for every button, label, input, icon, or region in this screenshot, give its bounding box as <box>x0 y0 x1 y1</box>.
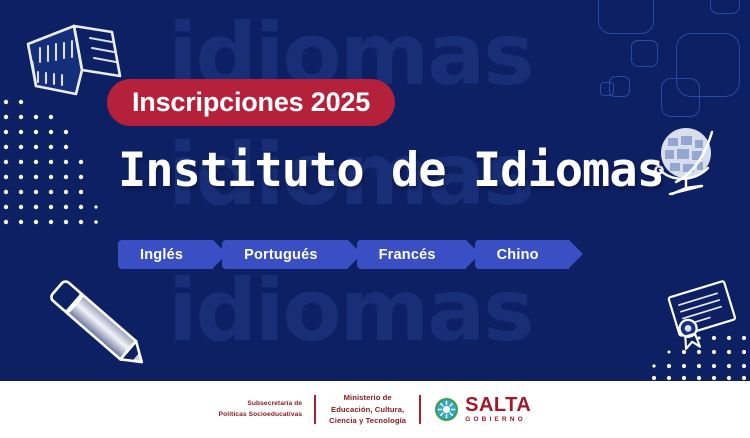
rounded-square-decor <box>710 0 740 14</box>
salta-gobierno-logo: SALTA GOBIERNO <box>421 395 531 424</box>
diploma-icon <box>664 278 744 354</box>
ministerio-line-3: Ciencia y Tecnología <box>329 415 406 426</box>
hero-section: idiomas idiomas idiomas <box>0 0 750 381</box>
subsecretaria-block: Subsecretaría de Políticas Socioeducativ… <box>219 399 315 419</box>
tab-chino[interactable]: Chino <box>475 240 569 269</box>
subsecretaria-text: Subsecretaría de Políticas Socioeducativ… <box>219 399 315 419</box>
tab-ingles[interactable]: Inglés <box>118 240 213 269</box>
sun-emblem-icon <box>437 400 456 419</box>
rounded-square-decor <box>598 0 654 34</box>
tab-frances-label: Francés <box>379 247 436 263</box>
inscriptions-badge: Inscripciones 2025 <box>107 79 395 126</box>
tab-chino-label: Chino <box>497 247 539 263</box>
subsecretaria-line-1: Subsecretaría de <box>219 399 303 409</box>
ministerio-line-1: Ministerio de <box>329 392 406 403</box>
banner-root: idiomas idiomas idiomas <box>0 0 750 438</box>
tab-frances[interactable]: Francés <box>357 240 466 269</box>
dot-grid-left <box>0 96 102 236</box>
inscriptions-badge-label: Inscripciones 2025 <box>132 87 370 118</box>
tab-ingles-label: Inglés <box>140 247 183 263</box>
pencil-icon <box>38 278 166 374</box>
tab-portugues[interactable]: Portugués <box>222 240 348 269</box>
rounded-square-decor <box>600 82 614 96</box>
watermark-text-row-3: idiomas <box>168 268 532 354</box>
rounded-square-decor <box>631 40 658 67</box>
salta-subtitle: GOBIERNO <box>465 417 531 424</box>
ministerio-text: Ministerio de Educación, Cultura, Cienci… <box>316 392 419 426</box>
salta-seal-icon <box>435 398 458 421</box>
subsecretaria-line-2: Políticas Socioeducativas <box>219 410 303 420</box>
ministerio-line-2: Educación, Cultura, <box>329 404 406 415</box>
salta-wordmark: SALTA GOBIERNO <box>465 395 531 424</box>
footer: Subsecretaría de Políticas Socioeducativ… <box>0 381 750 438</box>
salta-name: SALTA <box>465 395 531 415</box>
tab-portugues-label: Portugués <box>244 247 318 263</box>
page-title: Instituto de Idiomas <box>118 143 664 198</box>
language-tabs: Inglés Portugués Francés Chino <box>118 240 569 269</box>
rounded-square-decor <box>661 78 700 117</box>
